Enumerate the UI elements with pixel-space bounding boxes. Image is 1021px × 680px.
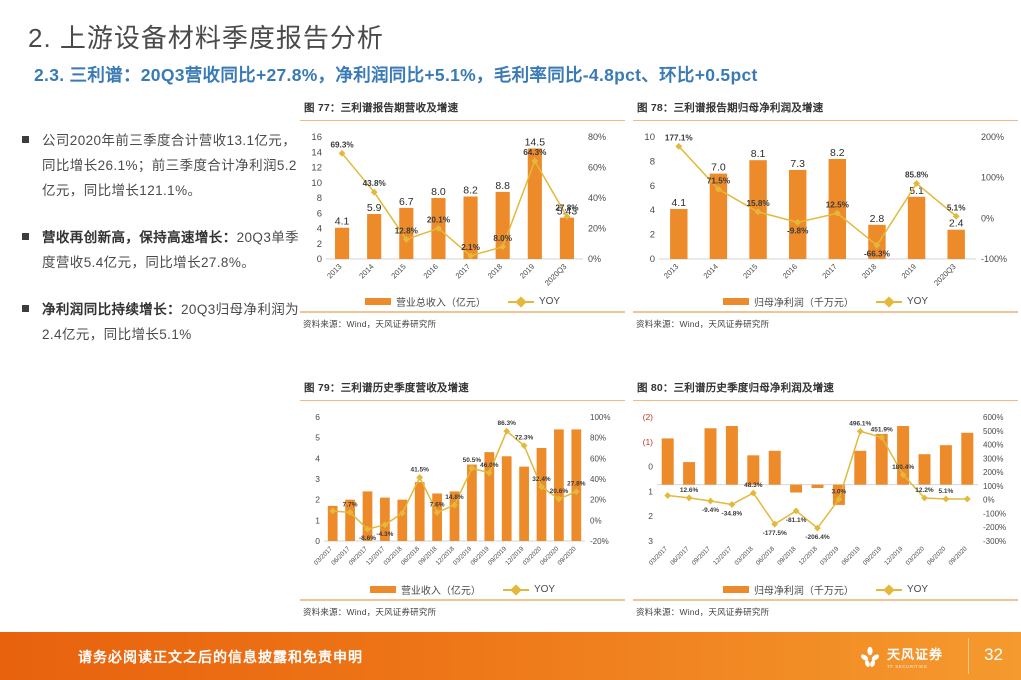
chart-source-78: 资料来源：Wind，天风证券研究所 [633,313,1018,330]
svg-text:69.3%: 69.3% [330,141,354,150]
logo-flower-icon [859,646,881,668]
svg-text:27.8%: 27.8% [567,481,586,488]
svg-text:20%: 20% [590,496,606,505]
svg-text:-200%: -200% [983,524,1006,533]
svg-text:-66.3%: -66.3% [864,250,891,259]
page-subtitle: 2.3. 三利谱：20Q3营收同比+27.8%，净利润同比+5.1%，毛利率同比… [34,62,758,87]
svg-text:180.4%: 180.4% [892,464,914,471]
legend-item-bar: 归母净利润（千万元） [723,582,854,597]
svg-text:20%: 20% [588,224,606,234]
divider [633,311,1018,312]
chart-card-79: 图 79：三利谱历史季度营收及增速 0123456-20%0%20%40%60%… [300,376,625,626]
svg-text:2019: 2019 [518,262,536,280]
svg-text:4: 4 [317,224,322,235]
svg-text:2013: 2013 [325,262,343,280]
svg-text:06/2020: 06/2020 [926,546,948,568]
svg-text:2020Q3: 2020Q3 [932,262,957,287]
svg-text:200%: 200% [983,469,1003,478]
svg-text:8.1: 8.1 [751,149,766,161]
slide: 2. 上游设备材料季度报告分析 2.3. 三利谱：20Q3营收同比+27.8%，… [0,0,1021,680]
svg-text:0%: 0% [588,254,601,264]
svg-text:-206.4%: -206.4% [805,534,829,541]
line-swatch-icon [876,301,902,303]
bar-swatch-icon [723,586,749,593]
logo-subtitle: TF SECURITIES [887,664,943,669]
svg-text:-4.3%: -4.3% [376,531,393,538]
divider [300,311,625,312]
bullet-square-icon [22,136,29,143]
svg-text:6: 6 [650,181,655,192]
svg-text:09/2019: 09/2019 [862,546,884,568]
svg-text:5.1%: 5.1% [947,204,966,213]
svg-text:12.2%: 12.2% [915,487,934,494]
svg-text:10: 10 [644,132,655,143]
svg-text:-9.8%: -9.8% [787,227,809,236]
svg-text:09/2018: 09/2018 [776,546,798,568]
svg-text:1: 1 [315,516,320,526]
svg-text:2: 2 [315,495,320,505]
bullet-text: 公司2020年前三季度合计营收13.1亿元，同比增长26.1%；前三季度合计净利… [42,128,308,203]
svg-text:2020Q3: 2020Q3 [543,262,568,287]
svg-text:27.8%: 27.8% [555,204,579,213]
page-title: 2. 上游设备材料季度报告分析 [28,18,384,55]
svg-text:03/2017: 03/2017 [648,546,670,568]
list-item: 公司2020年前三季度合计营收13.1亿元，同比增长26.1%；前三季度合计净利… [22,128,308,203]
svg-text:(2): (2) [643,412,654,422]
svg-text:0: 0 [317,254,322,265]
svg-text:8: 8 [650,157,655,168]
svg-text:7.3: 7.3 [790,158,805,170]
svg-text:7.7%: 7.7% [343,502,358,509]
svg-text:12: 12 [311,163,322,174]
svg-text:12/2019: 12/2019 [883,546,905,568]
svg-text:80%: 80% [588,132,606,142]
chart-title-77: 图 77：三利谱报告期营收及增速 [300,96,625,120]
bullet-square-icon [22,233,29,240]
svg-text:10: 10 [311,178,322,189]
legend-item-line: YOY [876,584,928,595]
svg-text:14.5: 14.5 [525,137,546,149]
svg-text:-8.6%: -8.6% [359,536,376,543]
svg-text:72.3%: 72.3% [515,435,534,442]
svg-text:3: 3 [648,536,653,546]
svg-text:60%: 60% [588,163,606,173]
svg-text:7.0: 7.0 [711,162,726,174]
svg-text:2017: 2017 [454,262,472,280]
line-swatch-icon [508,301,534,303]
svg-text:03/2019: 03/2019 [819,546,841,568]
svg-text:-34.8%: -34.8% [722,511,743,518]
svg-text:20.1%: 20.1% [427,216,451,225]
chart-title-78: 图 78：三利谱报告期归母净利润及增速 [633,96,1018,120]
svg-text:16: 16 [311,132,322,143]
svg-text:06/2018: 06/2018 [755,546,777,568]
svg-text:12.8%: 12.8% [395,227,419,236]
svg-text:4.1: 4.1 [672,197,687,209]
svg-text:06/2019: 06/2019 [840,546,862,568]
svg-text:100%: 100% [983,482,1003,491]
svg-text:14.8%: 14.8% [445,494,464,501]
svg-text:8.2: 8.2 [830,147,845,159]
svg-text:-177.5%: -177.5% [763,531,787,538]
chart-title-79: 图 79：三利谱历史季度营收及增速 [300,376,625,400]
svg-text:64.3%: 64.3% [523,148,547,157]
line-swatch-icon [503,589,529,591]
svg-text:-100%: -100% [981,254,1007,264]
line-swatch-icon [876,589,902,591]
svg-text:14: 14 [311,148,322,159]
svg-text:-300%: -300% [983,537,1006,546]
svg-text:0: 0 [315,536,320,546]
svg-text:-9.4%: -9.4% [702,507,719,514]
footer-bar: 请务必阅读正文之后的信息披露和免责申明 天风证券 TF SECURITIES [0,632,1021,680]
chart-source-77: 资料来源：Wind，天风证券研究所 [300,313,625,330]
svg-text:2018: 2018 [860,262,878,280]
chart-source-80: 资料来源：Wind，天风证券研究所 [633,601,1018,618]
svg-text:100%: 100% [981,173,1004,183]
svg-text:451.9%: 451.9% [871,427,893,434]
svg-text:2018: 2018 [486,262,504,280]
svg-text:12/2017: 12/2017 [712,546,734,568]
svg-text:8.0%: 8.0% [493,234,512,243]
bullet-text: 净利润同比持续增长：20Q3归母净利润为2.4亿元，同比增长5.1% [42,297,308,347]
svg-text:6.7: 6.7 [399,196,414,208]
svg-text:2: 2 [317,239,322,250]
chart-plot-77: 02468101214160%20%40%60%80%4.15.96.78.08… [300,121,625,293]
svg-text:2019: 2019 [900,262,918,280]
svg-text:2013: 2013 [662,262,680,280]
svg-text:12.6%: 12.6% [680,487,699,494]
svg-text:200%: 200% [981,132,1004,142]
svg-text:7.6%: 7.6% [430,502,445,509]
svg-text:0%: 0% [590,517,602,526]
svg-text:-20%: -20% [590,537,609,546]
svg-text:5.1%: 5.1% [938,488,953,495]
svg-text:2017: 2017 [820,262,838,280]
bar-swatch-icon [370,586,396,593]
svg-text:(1): (1) [643,437,654,447]
svg-text:03/2018: 03/2018 [733,546,755,568]
legend-item-line: YOY [503,584,555,595]
svg-text:8.8: 8.8 [495,180,510,192]
svg-text:3: 3 [315,474,320,484]
svg-text:3.0%: 3.0% [831,489,846,496]
svg-text:177.1%: 177.1% [665,134,693,143]
chart-legend-79: 营业收入（亿元） YOY [300,582,625,597]
svg-text:2014: 2014 [357,262,375,280]
bullet-list: 公司2020年前三季度合计营收13.1亿元，同比增长26.1%；前三季度合计净利… [22,128,308,369]
svg-text:2.8: 2.8 [870,213,885,225]
list-item: 营收再创新高，保持高速增长：20Q3单季度营收5.4亿元，同比增长27.8%。 [22,225,308,275]
legend-item-bar: 营业总收入（亿元） [365,294,486,309]
svg-text:41.5%: 41.5% [410,467,429,474]
divider [968,638,969,674]
bar-swatch-icon [365,298,391,305]
page-number: 32 [984,645,1003,665]
legend-item-bar: 归母净利润（千万元） [723,294,854,309]
svg-text:8.2: 8.2 [463,185,478,197]
bullet-text: 营收再创新高，保持高速增长：20Q3单季度营收5.4亿元，同比增长27.8%。 [42,225,308,275]
svg-text:2014: 2014 [702,262,720,280]
chart-source-79: 资料来源：Wind，天风证券研究所 [300,601,625,618]
svg-text:2016: 2016 [422,262,440,280]
svg-text:12/2018: 12/2018 [798,546,820,568]
chart-plot-80: 3210(1)(2)600%500%400%300%200%100%0%-100… [633,401,1018,581]
svg-text:09/2020: 09/2020 [556,546,578,568]
chart-plot-79: 0123456-20%0%20%40%60%80%100%7.7%-8.6%-4… [300,401,625,581]
svg-text:40%: 40% [588,193,606,203]
svg-text:2.1%: 2.1% [461,243,480,252]
list-item: 净利润同比持续增长：20Q3归母净利润为2.4亿元，同比增长5.1% [22,297,308,347]
chart-title-80: 图 80：三利谱历史季度归母净利润及增速 [633,376,1018,400]
svg-text:5.9: 5.9 [367,202,382,214]
svg-text:-100%: -100% [983,510,1006,519]
svg-text:09/2020: 09/2020 [947,546,969,568]
chart-card-80: 图 80：三利谱历史季度归母净利润及增速 3210(1)(2)600%500%4… [633,376,1018,626]
svg-text:15.8%: 15.8% [746,199,770,208]
svg-text:2: 2 [650,230,655,241]
svg-text:500%: 500% [983,427,1003,436]
svg-text:46.0%: 46.0% [480,462,499,469]
svg-text:2015: 2015 [389,262,407,280]
svg-text:5: 5 [315,433,320,443]
legend-item-line: YOY [508,296,560,307]
svg-text:20.6%: 20.6% [550,488,569,495]
svg-text:85.8%: 85.8% [905,171,929,180]
chart-legend-80: 归母净利润（千万元） YOY [633,582,1018,597]
svg-text:2: 2 [648,512,653,522]
svg-text:06/2017: 06/2017 [669,546,691,568]
svg-text:2016: 2016 [781,262,799,280]
svg-text:8.0: 8.0 [431,186,446,198]
svg-text:43.8%: 43.8% [363,180,387,189]
bullet-square-icon [22,305,29,312]
svg-text:400%: 400% [983,441,1003,450]
footer-disclaimer: 请务必阅读正文之后的信息披露和免责申明 [78,647,363,667]
svg-text:86.3%: 86.3% [497,421,516,428]
svg-text:09/2017: 09/2017 [691,546,713,568]
svg-text:300%: 300% [983,455,1003,464]
svg-text:0: 0 [648,462,653,472]
svg-text:60%: 60% [590,455,606,464]
svg-text:496.1%: 496.1% [849,421,871,428]
svg-text:12.5%: 12.5% [826,201,850,210]
brand-logo: 天风证券 TF SECURITIES [859,644,943,669]
svg-text:4.1: 4.1 [335,216,350,228]
svg-text:50.5%: 50.5% [463,458,482,465]
chart-legend-78: 归母净利润（千万元） YOY [633,294,1018,309]
svg-text:2015: 2015 [741,262,759,280]
svg-text:600%: 600% [983,413,1003,422]
bar-swatch-icon [723,298,749,305]
chart-card-77: 图 77：三利谱报告期营收及增速 02468101214160%20%40%60… [300,96,625,346]
svg-text:4: 4 [650,206,655,217]
svg-text:03/2020: 03/2020 [905,546,927,568]
chart-plot-78: 0246810-100%0%100%200%4.17.08.17.38.22.8… [633,121,1018,293]
svg-text:4: 4 [315,454,320,464]
legend-item-line: YOY [876,296,928,307]
svg-text:-81.1%: -81.1% [786,517,807,524]
chart-card-78: 图 78：三利谱报告期归母净利润及增速 0246810-100%0%100%20… [633,96,1018,346]
svg-text:71.5%: 71.5% [707,177,731,186]
svg-text:8: 8 [317,193,322,204]
svg-text:6: 6 [317,209,322,220]
svg-text:1: 1 [648,487,653,497]
svg-text:48.3%: 48.3% [744,482,763,489]
chart-legend-77: 营业总收入（亿元） YOY [300,294,625,309]
svg-text:100%: 100% [590,413,610,422]
svg-text:0%: 0% [981,214,994,224]
logo-text-block: 天风证券 TF SECURITIES [887,644,943,669]
svg-text:0: 0 [650,254,655,265]
divider [633,599,1018,600]
svg-text:40%: 40% [590,475,606,484]
svg-text:6: 6 [315,412,320,422]
svg-text:32.4%: 32.4% [532,476,551,483]
logo-name: 天风证券 [887,647,943,662]
legend-item-bar: 营业收入（亿元） [370,582,481,597]
svg-text:0%: 0% [983,496,995,505]
divider [300,599,625,600]
svg-text:80%: 80% [590,434,606,443]
